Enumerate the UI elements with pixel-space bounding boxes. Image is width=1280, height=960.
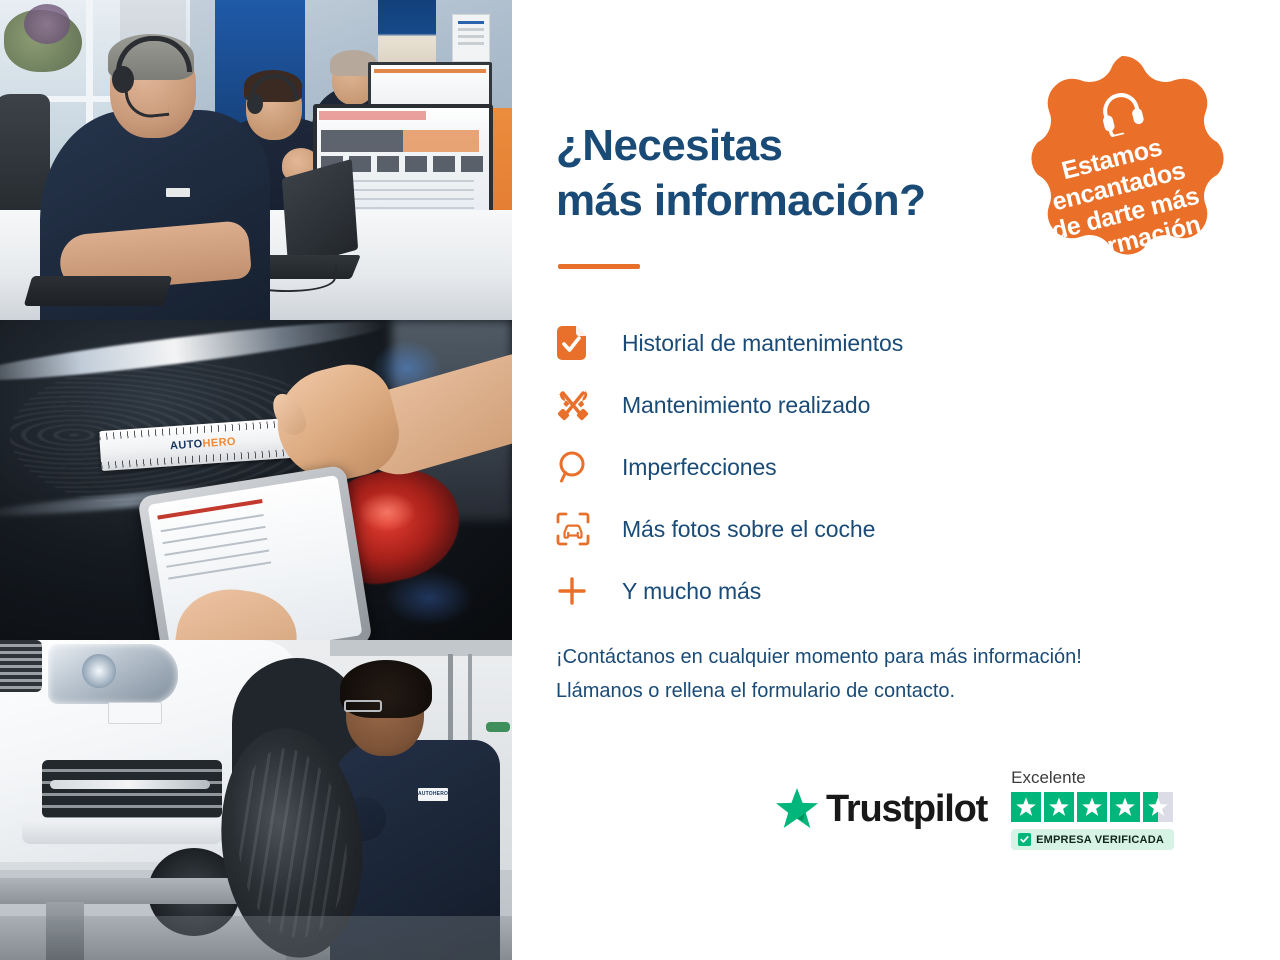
taillight-glow (358, 492, 416, 532)
trustpilot-widget[interactable]: Trustpilot Excelente (774, 768, 1174, 850)
ruler-logo-auto: AUTO (170, 438, 203, 452)
tools-icon (556, 388, 600, 422)
contact-promo-badge: Estamos encantados de darte más informac… (990, 52, 1254, 316)
contact-text: ¡Contáctanos en cualquier momento para m… (556, 640, 1236, 708)
star-1 (1011, 792, 1041, 822)
polo-logo-patch (166, 188, 190, 197)
desk-tablet (24, 276, 173, 306)
photo-collage: AUTOHERO (0, 0, 512, 960)
feature-label: Y mucho más (600, 578, 761, 605)
trustpilot-brand-name: Trustpilot (826, 788, 987, 831)
trustpilot-logo[interactable]: Trustpilot (774, 786, 987, 832)
trustpilot-rating: Excelente (1011, 768, 1174, 850)
page-title: ¿Necesitas más información? (556, 118, 925, 228)
wall-notice (452, 14, 490, 62)
verified-label: EMPRESA VERIFICADA (1036, 834, 1164, 846)
lift-arm (0, 878, 250, 904)
feature-label: Más fotos sobre el coche (600, 516, 875, 543)
star-3 (1077, 792, 1107, 822)
dent-inspection-photo: AUTOHERO (0, 320, 512, 640)
magnifier-icon (556, 450, 600, 484)
car-headlight (48, 644, 178, 704)
contact-line-1: ¡Contáctanos en cualquier momento para m… (556, 646, 1082, 668)
agent-middle-headset-cup (247, 94, 263, 114)
green-hose (486, 722, 510, 732)
outdoor-tree (24, 4, 70, 44)
verified-check-icon (1018, 833, 1031, 846)
contact-line-2: Llámanos o rellena el formulario de cont… (556, 674, 1236, 708)
trustpilot-star-icon (774, 786, 820, 832)
license-plate-area (108, 702, 162, 724)
trustpilot-rating-label: Excelente (1011, 768, 1086, 788)
feature-label: Imperfecciones (600, 454, 777, 481)
ceiling-beam (330, 640, 512, 656)
title-underline-rule (558, 264, 640, 269)
chrome-trim (50, 780, 210, 789)
call-center-agents-photo (0, 0, 512, 320)
feature-list: Historial de mantenimientos M (556, 312, 1016, 622)
feature-item-imperfections: Imperfecciones (556, 436, 1016, 498)
plus-icon (556, 575, 600, 607)
laptop-screen (282, 159, 358, 269)
car-bumper (22, 818, 222, 844)
mechanic-uniform-badge: AUTOHERO (418, 788, 448, 801)
car-focus-icon (556, 512, 600, 546)
feature-item-more-photos: Más fotos sobre el coche (556, 498, 1016, 560)
car-grille (0, 640, 42, 692)
feature-label: Mantenimiento realizado (600, 392, 870, 419)
workshop-tire-photo: AUTOHERO (0, 640, 512, 960)
car-lower-grille (42, 760, 222, 818)
marketing-panel: AUTOHERO (0, 0, 1280, 960)
wall-poster (378, 0, 436, 70)
info-panel: ¿Necesitas más información? Historial de… (512, 0, 1280, 960)
ruler-logo-hero: HERO (202, 436, 236, 450)
feature-label: Historial de mantenimientos (600, 330, 903, 357)
star-4 (1110, 792, 1140, 822)
feature-item-much-more: Y mucho más (556, 560, 1016, 622)
star-5-half (1143, 792, 1173, 822)
star-2 (1044, 792, 1074, 822)
floor-shadow (0, 916, 512, 960)
feature-item-maintenance-history: Historial de mantenimientos (556, 312, 1016, 374)
feature-item-maintenance-done: Mantenimiento realizado (556, 374, 1016, 436)
trustpilot-star-row (1011, 792, 1173, 822)
document-check-icon (556, 326, 600, 360)
mechanic-glasses (344, 700, 382, 712)
verified-company-badge: EMPRESA VERIFICADA (1011, 829, 1174, 850)
